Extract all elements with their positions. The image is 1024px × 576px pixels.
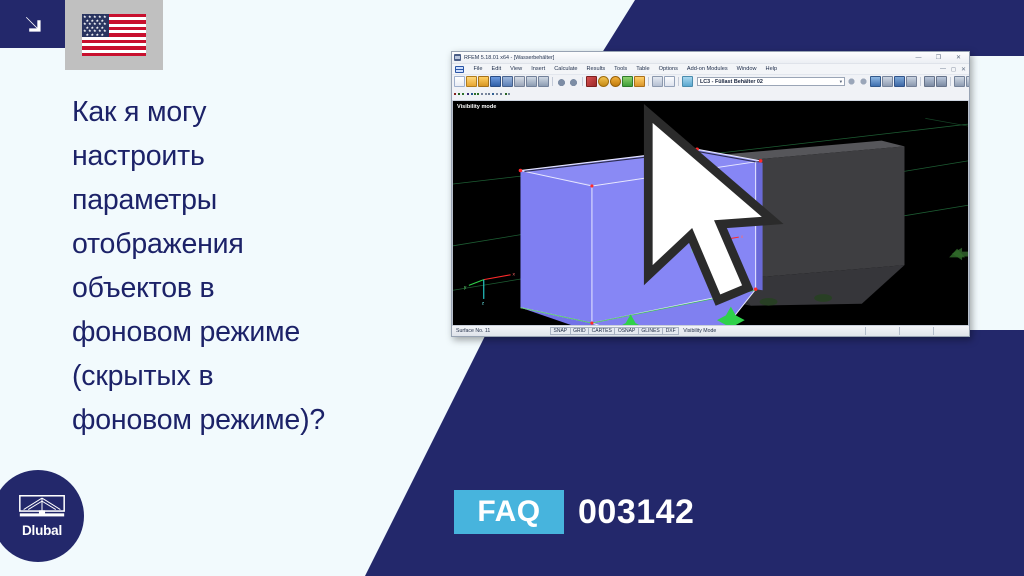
redo-icon[interactable] bbox=[568, 76, 579, 87]
load-case-icon[interactable] bbox=[682, 76, 693, 87]
mdi-minimize-button[interactable]: — bbox=[940, 66, 946, 73]
print-preview-icon[interactable] bbox=[526, 76, 537, 87]
wire-render-icon[interactable] bbox=[634, 76, 645, 87]
chevron-down-icon: ▾ bbox=[840, 79, 842, 85]
next-icon[interactable] bbox=[858, 76, 869, 87]
close-button[interactable]: ✕ bbox=[954, 54, 963, 62]
opening-icon[interactable] bbox=[471, 93, 473, 95]
status-toggle-glines[interactable]: GLINES bbox=[638, 327, 662, 335]
visibility-icon[interactable] bbox=[894, 76, 905, 87]
deformation-icon[interactable] bbox=[500, 93, 502, 95]
zoom-window-icon[interactable] bbox=[598, 76, 609, 87]
print-icon[interactable] bbox=[514, 76, 525, 87]
navy-wedge-top-right bbox=[600, 0, 1024, 56]
status-mode-label: Visibility Mode bbox=[679, 328, 716, 334]
window-titlebar[interactable]: RFEM 5.18.01 x64 - [Wasserbehälter] — ❐ … bbox=[452, 52, 969, 64]
status-toggle-grid[interactable]: GRID bbox=[570, 327, 589, 335]
line-support-icon[interactable] bbox=[481, 93, 483, 95]
faq-question-text: Как я могу настроить параметры отображен… bbox=[72, 90, 402, 442]
status-cell-3 bbox=[933, 327, 967, 335]
menu-item-options[interactable]: Options bbox=[654, 66, 682, 72]
line-icon[interactable] bbox=[458, 93, 460, 95]
faq-badge-label: FAQ bbox=[477, 495, 540, 529]
zoom-all-icon[interactable] bbox=[610, 76, 621, 87]
truss-bridge-icon bbox=[19, 495, 65, 521]
camera-icon[interactable] bbox=[936, 76, 947, 87]
toolbar-row-2 bbox=[452, 88, 969, 101]
mdi-controls: — ◻ ✕ bbox=[940, 66, 969, 73]
status-toggle-cartes[interactable]: CARTES bbox=[588, 327, 614, 335]
prev-icon[interactable] bbox=[846, 76, 857, 87]
status-cell-2 bbox=[899, 327, 933, 335]
surface-icon[interactable] bbox=[467, 93, 469, 95]
grid-toggle-icon[interactable] bbox=[505, 93, 507, 95]
save-project-icon[interactable] bbox=[490, 76, 501, 87]
toolbar-separator bbox=[552, 77, 553, 86]
logo-wordmark: Dlubal bbox=[22, 523, 62, 538]
rfem-app-icon bbox=[454, 54, 461, 61]
window-icon[interactable] bbox=[966, 76, 970, 87]
menu-item-addons[interactable]: Add-on Modules bbox=[682, 66, 732, 72]
status-selection: Surface No. 11 bbox=[454, 328, 550, 334]
load-case-value: LC3 - Füllast Behälter 02 bbox=[700, 79, 763, 85]
mdi-restore-button[interactable]: ◻ bbox=[951, 66, 956, 73]
menubar: File Edit View Insert Calculate Results … bbox=[452, 64, 969, 75]
statusbar: Surface No. 11 SNAP GRID CARTES OSNAP GL… bbox=[452, 325, 969, 336]
new-document-icon[interactable] bbox=[454, 76, 465, 87]
toolbar-row-1: LC3 - Füllast Behälter 02 ▾ bbox=[452, 75, 969, 88]
toolbar-separator bbox=[582, 77, 583, 86]
toolbar-separator bbox=[678, 77, 679, 86]
render-icon[interactable] bbox=[622, 76, 633, 87]
rfem-application-window: RFEM 5.18.01 x64 - [Wasserbehälter] — ❐ … bbox=[451, 51, 970, 337]
menu-item-results[interactable]: Results bbox=[582, 66, 610, 72]
slide-canvas: ★ ★ ★ ★ ★ ★ ★ ★ ★ ★ ★ ★ ★ ★ ★ ★ ★ ★ ★ ★ bbox=[0, 0, 1024, 576]
node-icon[interactable] bbox=[454, 93, 456, 95]
measure-icon[interactable] bbox=[882, 76, 893, 87]
model-viewport[interactable]: Visibility mode bbox=[452, 101, 969, 325]
menu-item-calculate[interactable]: Calculate bbox=[550, 66, 582, 72]
status-toggle-snap[interactable]: SNAP bbox=[550, 327, 570, 335]
toolbar-separator bbox=[950, 77, 951, 86]
faq-badge: FAQ bbox=[454, 490, 564, 534]
free-load-icon[interactable] bbox=[496, 93, 498, 95]
nodal-load-icon[interactable] bbox=[488, 93, 490, 95]
toolbar-separator bbox=[920, 77, 921, 86]
select-icon[interactable] bbox=[870, 76, 881, 87]
photo-icon[interactable] bbox=[954, 76, 965, 87]
load-case-select[interactable]: LC3 - Füllast Behälter 02 ▾ bbox=[697, 77, 845, 87]
open-recent-icon[interactable] bbox=[478, 76, 489, 87]
member-load-icon[interactable] bbox=[492, 93, 494, 95]
minimize-button[interactable]: — bbox=[914, 54, 923, 62]
status-toggle-group: SNAP GRID CARTES OSNAP GLINES DXF bbox=[550, 327, 679, 335]
menu-item-window[interactable]: Window bbox=[732, 66, 761, 72]
clipping-icon[interactable] bbox=[906, 76, 917, 87]
menu-item-table[interactable]: Table bbox=[632, 66, 654, 72]
pencil-edit-icon[interactable] bbox=[586, 76, 597, 87]
table-grid-icon[interactable] bbox=[455, 66, 464, 73]
menu-item-help[interactable]: Help bbox=[761, 66, 782, 72]
nodal-support-icon[interactable] bbox=[477, 93, 479, 95]
open-folder-icon[interactable] bbox=[466, 76, 477, 87]
dlubal-logo: Dlubal bbox=[0, 470, 84, 562]
status-toggle-osnap[interactable]: OSNAP bbox=[614, 327, 638, 335]
maximize-button[interactable]: ❐ bbox=[934, 54, 943, 62]
menu-item-edit[interactable]: Edit bbox=[487, 66, 506, 72]
toolbar-separator bbox=[648, 77, 649, 86]
grid-table-icon[interactable] bbox=[664, 76, 675, 87]
us-flag-icon: ★ ★ ★ ★ ★ ★ ★ ★ ★ ★ ★ ★ ★ ★ ★ ★ ★ ★ ★ ★ bbox=[65, 0, 163, 70]
mouse-pointer-icon bbox=[453, 101, 968, 325]
flag-graphic: ★ ★ ★ ★ ★ ★ ★ ★ ★ ★ ★ ★ ★ ★ ★ ★ ★ ★ ★ ★ bbox=[82, 14, 146, 56]
status-toggle-dxf[interactable]: DXF bbox=[662, 327, 679, 335]
menu-item-view[interactable]: View bbox=[506, 66, 527, 72]
window-controls: — ❐ ✕ bbox=[914, 54, 967, 62]
save-icon[interactable] bbox=[502, 76, 513, 87]
mdi-close-button[interactable]: ✕ bbox=[961, 66, 966, 73]
printer-setup-icon[interactable] bbox=[538, 76, 549, 87]
arrow-down-right-icon bbox=[0, 0, 65, 48]
faq-number: 003142 bbox=[578, 490, 694, 534]
load-icon[interactable] bbox=[485, 93, 487, 95]
table-icon[interactable] bbox=[652, 76, 663, 87]
support-icon[interactable] bbox=[474, 93, 476, 95]
window-title: RFEM 5.18.01 x64 - [Wasserbehälter] bbox=[464, 55, 554, 61]
undo-icon[interactable] bbox=[556, 76, 567, 87]
menu-item-insert[interactable]: Insert bbox=[527, 66, 550, 72]
member-icon[interactable] bbox=[462, 93, 464, 95]
snap-toggle-icon[interactable] bbox=[508, 93, 510, 95]
status-tail-cells bbox=[865, 327, 967, 335]
status-cell-1 bbox=[865, 327, 899, 335]
view-icon[interactable] bbox=[924, 76, 935, 87]
menu-item-file[interactable]: File bbox=[469, 66, 487, 72]
menu-item-tools[interactable]: Tools bbox=[610, 66, 632, 72]
